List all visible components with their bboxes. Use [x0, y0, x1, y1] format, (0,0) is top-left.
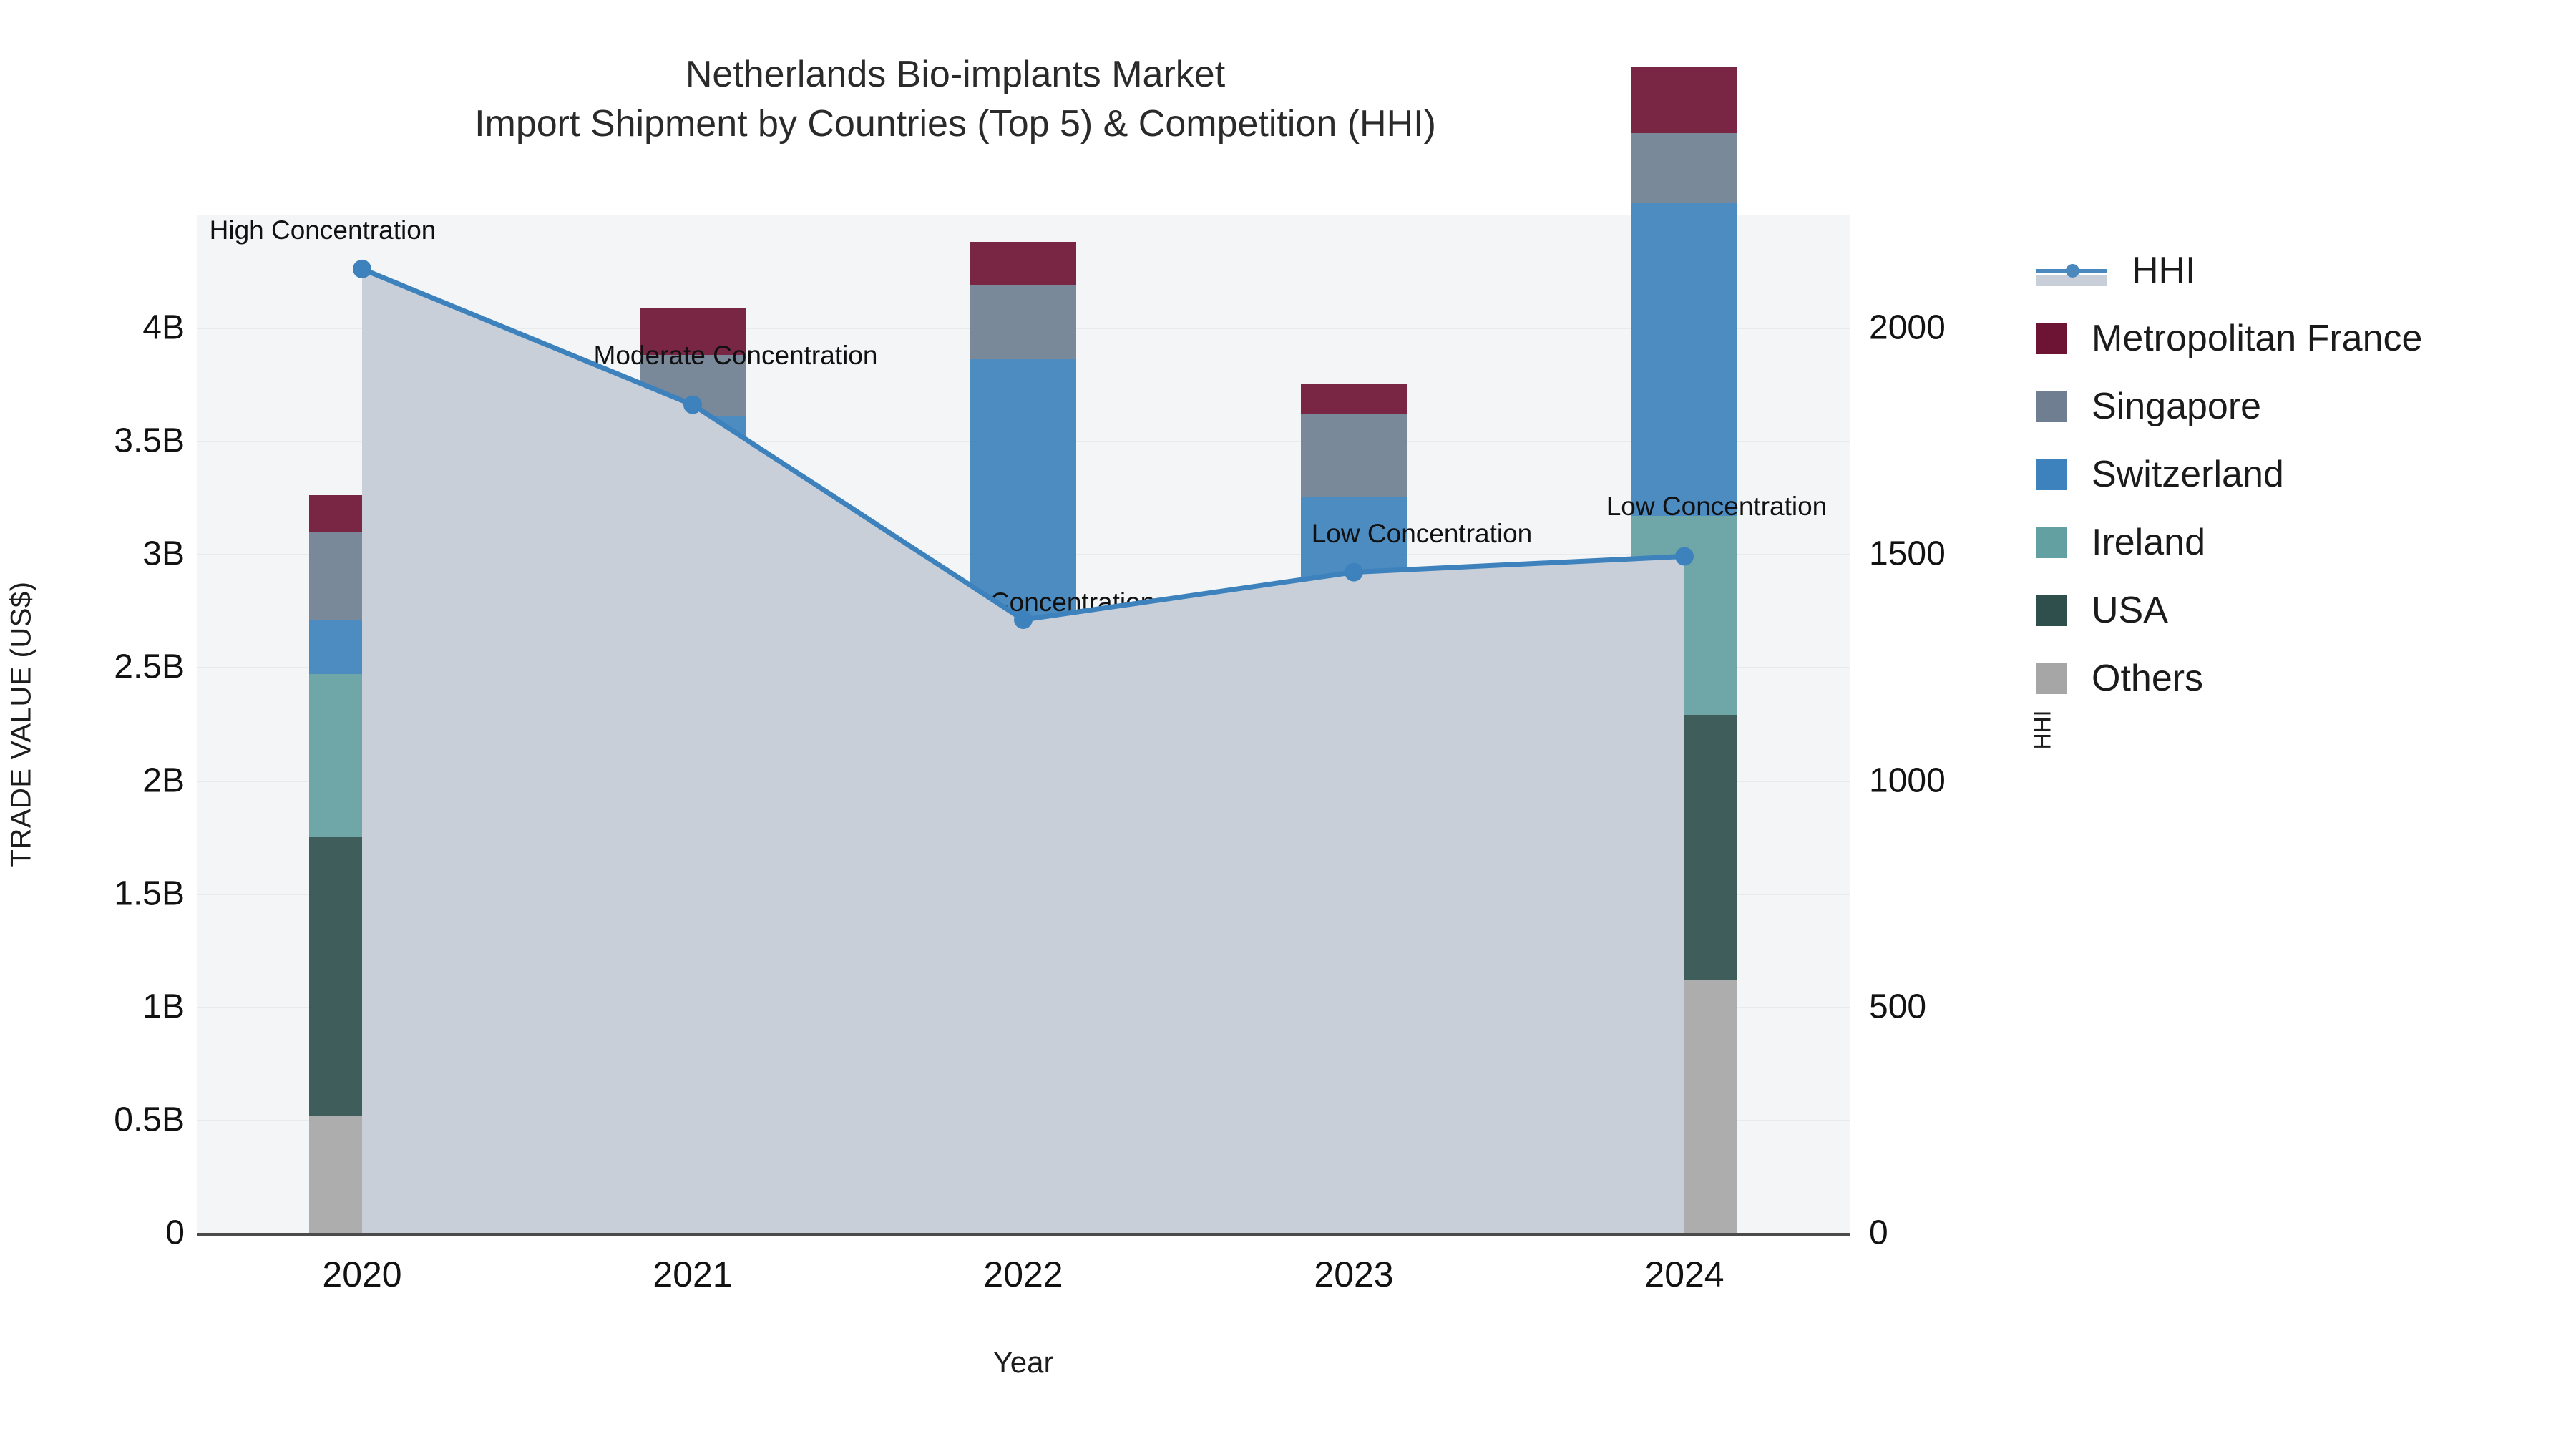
- legend-color-swatch-icon: [2036, 459, 2067, 490]
- legend-item[interactable]: Switzerland: [2036, 440, 2422, 508]
- y-tick-label: 0: [165, 1214, 185, 1253]
- x-tick-label: 2022: [983, 1254, 1063, 1295]
- bar-segment[interactable]: [309, 495, 415, 532]
- x-tick-label: 2024: [1644, 1254, 1724, 1295]
- legend-label: USA: [2092, 589, 2168, 632]
- x-tick-label: 2023: [1314, 1254, 1393, 1295]
- bar-segment[interactable]: [309, 674, 415, 837]
- bar-segment[interactable]: [970, 242, 1076, 285]
- y-tick-label: 3.5B: [114, 421, 185, 461]
- bar-segment[interactable]: [1631, 67, 1737, 133]
- x-axis-line: [197, 1233, 1850, 1236]
- x-tick-label: 2021: [653, 1254, 732, 1295]
- bar-segment[interactable]: [1301, 701, 1407, 805]
- y-tick-label: 0.5B: [114, 1100, 185, 1139]
- bar-segment[interactable]: [1301, 805, 1407, 1015]
- y2-tick-label: 500: [1869, 987, 1926, 1026]
- legend-color-swatch-icon: [2036, 663, 2067, 694]
- legend-color-swatch-icon: [2036, 391, 2067, 422]
- legend-item[interactable]: Singapore: [2036, 372, 2422, 440]
- bar-segment[interactable]: [1301, 414, 1407, 497]
- bar-segment[interactable]: [1631, 133, 1737, 203]
- y2-tick-label: 0: [1869, 1214, 1888, 1253]
- concentration-annotation: Low Concentration: [1312, 519, 1533, 549]
- y2-axis-ticklabels: 0500100015002000: [1869, 0, 2084, 1449]
- chart-title-block: Netherlands Bio-implants Market Import S…: [0, 50, 1911, 148]
- legend-label: Others: [2092, 657, 2203, 700]
- bar-segment[interactable]: [309, 1116, 415, 1233]
- y-axis-ticklabels: 00.5B1B1.5B2B2.5B3B3.5B4B: [0, 0, 185, 1449]
- bar-segment[interactable]: [640, 592, 746, 766]
- y-tick-label: 3B: [142, 535, 185, 574]
- bar-segment[interactable]: [970, 959, 1076, 1233]
- legend-label: Metropolitan France: [2092, 317, 2422, 360]
- y-tick-label: 1B: [142, 987, 185, 1026]
- legend-label: Singapore: [2092, 385, 2261, 428]
- bar-segment[interactable]: [640, 416, 746, 592]
- bar-segment[interactable]: [1631, 516, 1737, 715]
- bar-segment[interactable]: [309, 532, 415, 620]
- y2-tick-label: 1500: [1869, 535, 1946, 574]
- bar-segment[interactable]: [309, 837, 415, 1116]
- y-tick-label: 4B: [142, 308, 185, 348]
- y2-tick-label: 2000: [1869, 308, 1946, 348]
- legend-item[interactable]: USA: [2036, 576, 2422, 644]
- legend-item[interactable]: Ireland: [2036, 508, 2422, 576]
- concentration-annotation: Moderate Concentration: [594, 341, 878, 371]
- bar-segment[interactable]: [640, 767, 746, 1073]
- legend-label: HHI: [2132, 249, 2196, 292]
- legend-label: Switzerland: [2092, 453, 2284, 496]
- bar-segment[interactable]: [640, 1072, 746, 1233]
- x-tick-label: 2020: [322, 1254, 401, 1295]
- concentration-annotation: Low Concentration: [1606, 492, 1828, 522]
- legend-color-swatch-icon: [2036, 323, 2067, 354]
- legend: HHIMetropolitan FranceSingaporeSwitzerla…: [2036, 236, 2422, 712]
- chart-title: Netherlands Bio-implants Market: [0, 50, 1911, 99]
- legend-item[interactable]: Others: [2036, 644, 2422, 712]
- bar-segment[interactable]: [1631, 980, 1737, 1233]
- concentration-annotation: High Concentration: [210, 215, 436, 245]
- bar-segment[interactable]: [1301, 384, 1407, 414]
- chart-subtitle: Import Shipment by Countries (Top 5) & C…: [0, 99, 1911, 149]
- legend-color-swatch-icon: [2036, 595, 2067, 626]
- bar-segment[interactable]: [970, 647, 1076, 737]
- bar-segment[interactable]: [970, 285, 1076, 359]
- legend-item[interactable]: HHI: [2036, 236, 2422, 304]
- y-tick-label: 2B: [142, 761, 185, 800]
- y2-tick-label: 1000: [1869, 761, 1946, 800]
- y-tick-label: 2.5B: [114, 648, 185, 687]
- bar-segment[interactable]: [309, 620, 415, 674]
- bar-segment[interactable]: [1631, 715, 1737, 980]
- legend-label: Ireland: [2092, 521, 2205, 564]
- concentration-annotation: Low Concentration: [935, 587, 1156, 618]
- x-axis-title: Year: [197, 1345, 1850, 1380]
- chart-root: Netherlands Bio-implants Market Import S…: [0, 0, 2576, 1449]
- bar-segment[interactable]: [970, 737, 1076, 959]
- bar-segment[interactable]: [1301, 1015, 1407, 1233]
- y-tick-label: 1.5B: [114, 874, 185, 913]
- bar-segment[interactable]: [1631, 203, 1737, 515]
- legend-color-swatch-icon: [2036, 527, 2067, 558]
- legend-item[interactable]: Metropolitan France: [2036, 304, 2422, 372]
- hhi-line-swatch-icon: [2036, 255, 2107, 286]
